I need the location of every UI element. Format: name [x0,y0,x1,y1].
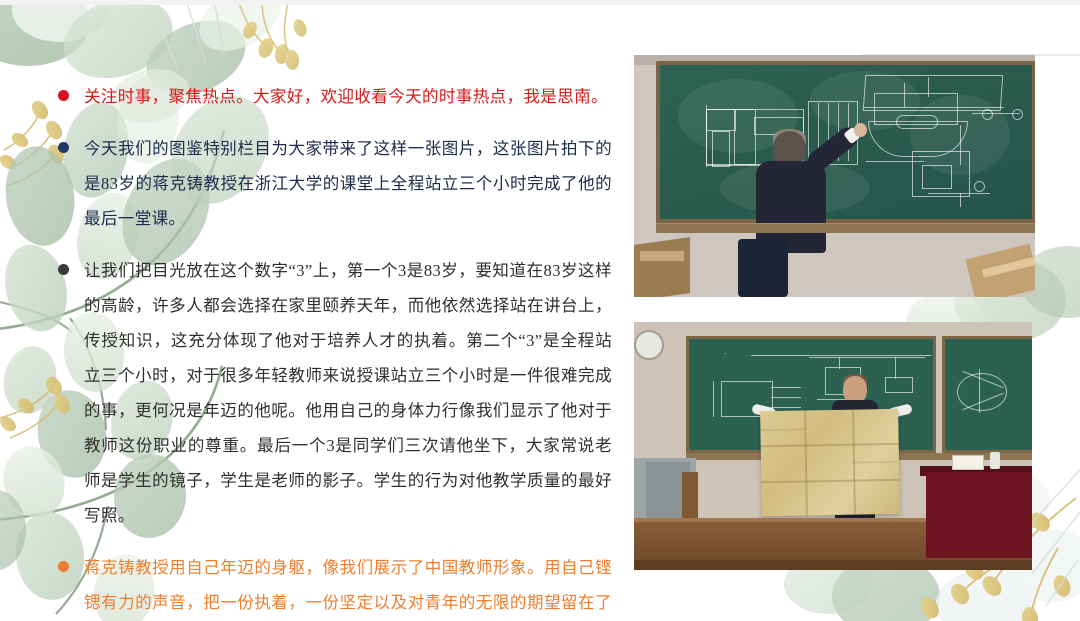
bullet-dot-navy [58,142,69,153]
bullet-item-1: 关注时事，聚焦热点。大家好，欢迎收看今天的时事热点，我是思南。 [52,79,612,114]
bullet-text-2: 今天我们的图鉴特别栏目为大家带来了这样一张图片，这张图片拍下的是83岁的蒋克铸教… [84,131,612,236]
bullet-dot-dark [58,264,69,275]
bullet-item-3: 让我们把目光放在这个数字“3”上，第一个3是83岁，要知道在83岁这样的高龄，许… [52,253,612,533]
photo-professor-holding-large-drawing: 蒋克铸教授站在讲台上双手展开一张大幅泛黄的手绘图纸 [634,322,1032,570]
bullet-dot-red [58,90,69,101]
photo-professor-writing-on-blackboard: 蒋克铸教授背对镜头在绿色黑板上用粉笔绘制机械工程图 [634,55,1035,297]
large-hand-drawn-sheet [760,409,900,516]
bullet-item-4: 蒋克铸教授用自己年迈的身躯，像我们展示了中国教师形象。用自己铿锶有力的声音，把一… [52,550,612,621]
desk-name-plate [952,455,984,470]
body-text-column: 关注时事，聚焦热点。大家好，欢迎收看今天的时事热点，我是思南。 今天我们的图鉴特… [52,62,612,621]
wall-clock-icon [634,330,664,360]
bullet-item-2: 今天我们的图鉴特别栏目为大家带来了这样一张图片，这张图片拍下的是83岁的蒋克铸教… [52,131,612,236]
bullet-text-1: 关注时事，聚焦热点。大家好，欢迎收看今天的时事热点，我是思南。 [84,79,612,114]
water-bottle [990,452,1000,469]
bullet-text-3: 让我们把目光放在这个数字“3”上，第一个3是83岁，要知道在83岁这样的高龄，许… [84,253,612,533]
top-band [0,0,1080,5]
slide-root: 关注时事，聚焦热点。大家好，欢迎收看今天的时事热点，我是思南。 今天我们的图鉴特… [0,0,1080,621]
bullet-dot-orange [58,561,69,572]
bullet-text-4: 蒋克铸教授用自己年迈的身躯，像我们展示了中国教师形象。用自己铿锶有力的声音，把一… [84,550,612,621]
